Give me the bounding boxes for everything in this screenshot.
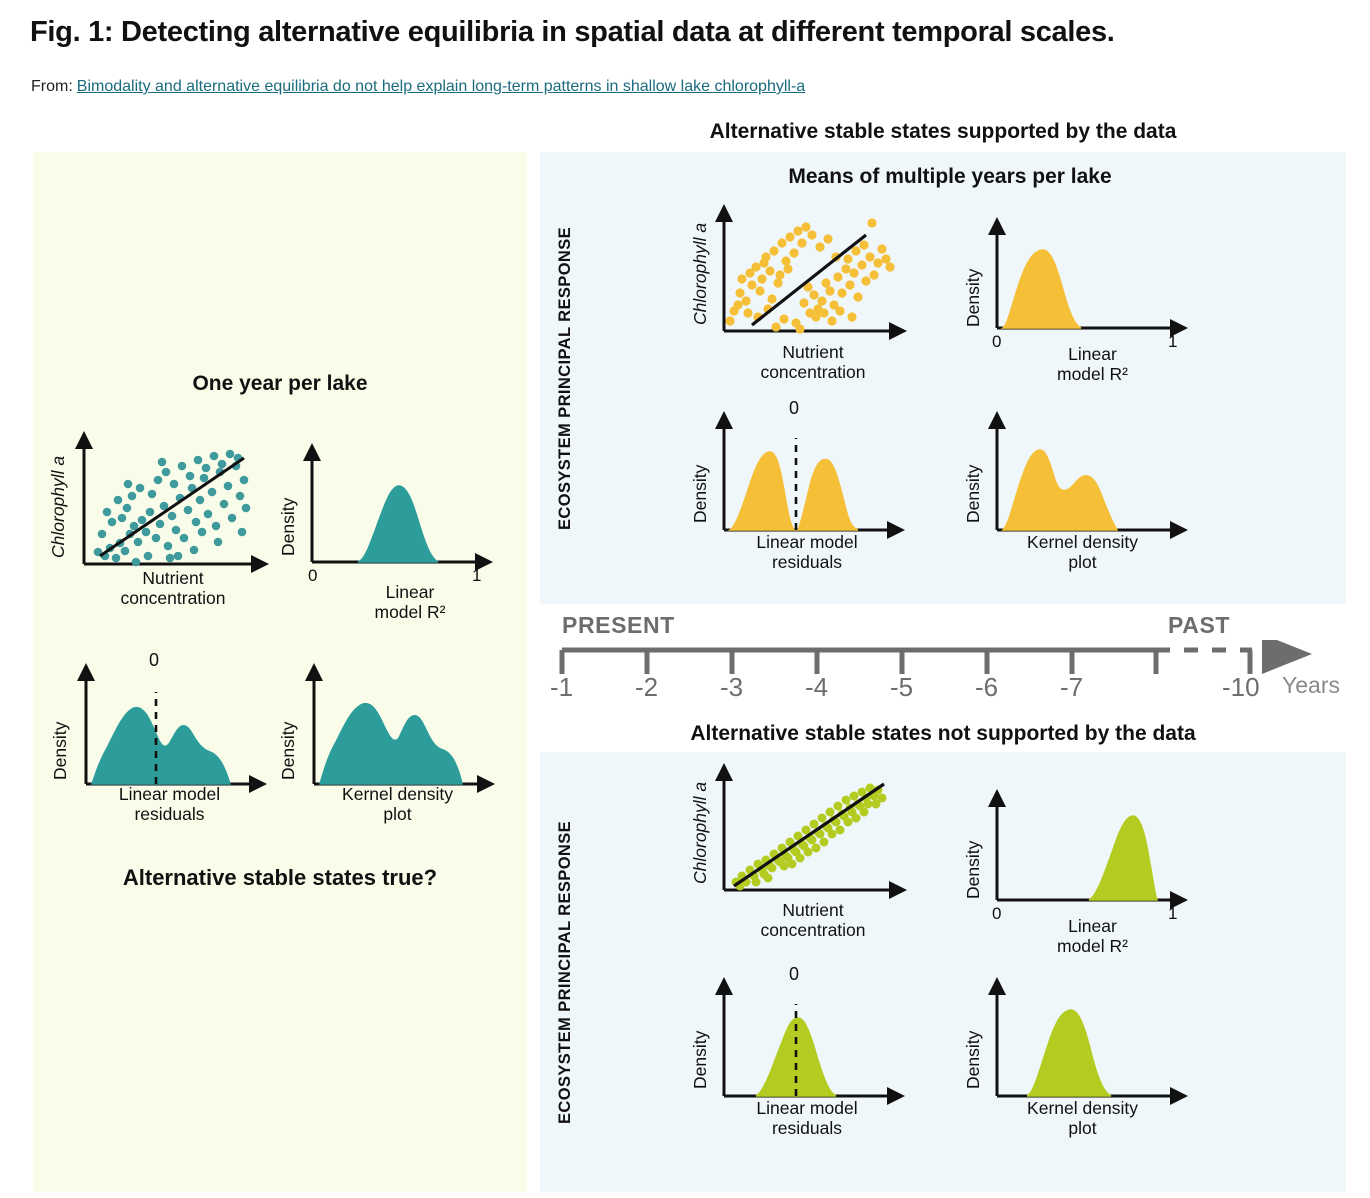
top-kernel-density-plot [985, 422, 1180, 542]
bottom-kernel-caption: Kernel density plot [985, 1098, 1180, 1139]
top-r2-density-plot [985, 228, 1180, 340]
timeline-tick--1: -1 [550, 672, 573, 703]
timeline-tick--6: -6 [975, 672, 998, 703]
bottom-residual-ylabel: Density [690, 994, 711, 1089]
top-residual-density-plot [712, 422, 897, 542]
top-r2-xmin-label: 0 [992, 332, 1001, 352]
left-scatter-ylabel: Chlorophyll a [48, 440, 69, 558]
timeline-unit-label: Years [1282, 672, 1340, 699]
timeline-present-label: PRESENT [562, 612, 675, 639]
top-residual-caption: Linear model residuals [712, 532, 902, 573]
source-article-link[interactable]: Bimodality and alternative equilibria do… [77, 78, 805, 95]
left-kernel-caption: Kernel density plot [300, 784, 495, 825]
left-scatter-plot [72, 438, 262, 573]
left-residual-zero-label: 0 [149, 650, 159, 671]
top-residual-zero-label: 0 [789, 398, 799, 419]
top-scatter-plot [712, 213, 897, 341]
panel-alternative-states-supported [540, 152, 1346, 604]
bottom-residual-caption: Linear model residuals [712, 1098, 902, 1139]
bottom-residual-zero-label: 0 [789, 964, 799, 985]
left-r2-ylabel: Density [278, 456, 299, 556]
timeline-past-label: PAST [1168, 612, 1230, 639]
left-r2-xmin-label: 0 [308, 566, 317, 586]
timeline-tick--5: -5 [890, 672, 913, 703]
bottom-r2-caption: Linear model R² [1005, 916, 1180, 957]
timeline-tick--3: -3 [720, 672, 743, 703]
top-r2-caption: Linear model R² [1005, 344, 1180, 385]
left-kernel-density-plot [300, 672, 490, 797]
top-panel-banner: Alternative stable states supported by t… [540, 120, 1346, 144]
bottom-residual-density-plot [712, 988, 897, 1108]
left-panel-heading: One year per lake [33, 372, 527, 396]
figure-title: Fig. 1: Detecting alternative equilibria… [30, 16, 1330, 49]
bottom-scatter-caption: Nutrient concentration [718, 900, 908, 941]
timeline-tick--10: -10 [1222, 672, 1260, 703]
left-r2-density-plot [300, 452, 485, 572]
bottom-r2-density-plot [985, 800, 1180, 912]
bottom-kernel-density-plot [985, 988, 1180, 1108]
bottom-scatter-ylabel: Chlorophyll a [690, 774, 711, 884]
left-scatter-caption: Nutrient concentration [78, 568, 268, 609]
top-panel-heading: Means of multiple years per lake [600, 165, 1300, 189]
top-residual-ylabel: Density [690, 428, 711, 523]
top-r2-ylabel: Density [963, 232, 984, 327]
bottom-scatter-plot [712, 772, 897, 900]
panel-alternative-states-not-supported [540, 752, 1346, 1192]
figure-source: From:Bimodality and alternative equilibr… [31, 78, 805, 96]
top-kernel-ylabel: Density [963, 428, 984, 523]
timeline-axis: PRESENT PAST -1 -2 -3 -4 -5 -6 -7 -10 Ye… [540, 612, 1370, 724]
from-label: From: [31, 78, 73, 95]
left-panel-footer-question: Alternative stable states true? [33, 865, 527, 891]
top-panel-side-label: ECOSYSTEM PRINCIPAL RESPONSE [556, 160, 575, 596]
timeline-tick--7: -7 [1060, 672, 1083, 703]
bottom-kernel-ylabel: Density [963, 994, 984, 1089]
bottom-r2-xmin-label: 0 [992, 904, 1001, 924]
timeline-tick--2: -2 [635, 672, 658, 703]
left-r2-caption: Linear model R² [320, 582, 500, 623]
top-scatter-caption: Nutrient concentration [718, 342, 908, 383]
left-residual-density-plot [72, 672, 262, 797]
left-residual-ylabel: Density [50, 680, 71, 780]
bottom-panel-side-label: ECOSYSTEM PRINCIPAL RESPONSE [556, 760, 575, 1184]
left-kernel-ylabel: Density [278, 680, 299, 780]
top-scatter-ylabel: Chlorophyll a [690, 215, 711, 325]
bottom-panel-banner: Alternative stable states not supported … [540, 722, 1346, 746]
top-kernel-caption: Kernel density plot [985, 532, 1180, 573]
left-residual-caption: Linear model residuals [72, 784, 267, 825]
bottom-r2-ylabel: Density [963, 804, 984, 899]
timeline-tick--4: -4 [805, 672, 828, 703]
